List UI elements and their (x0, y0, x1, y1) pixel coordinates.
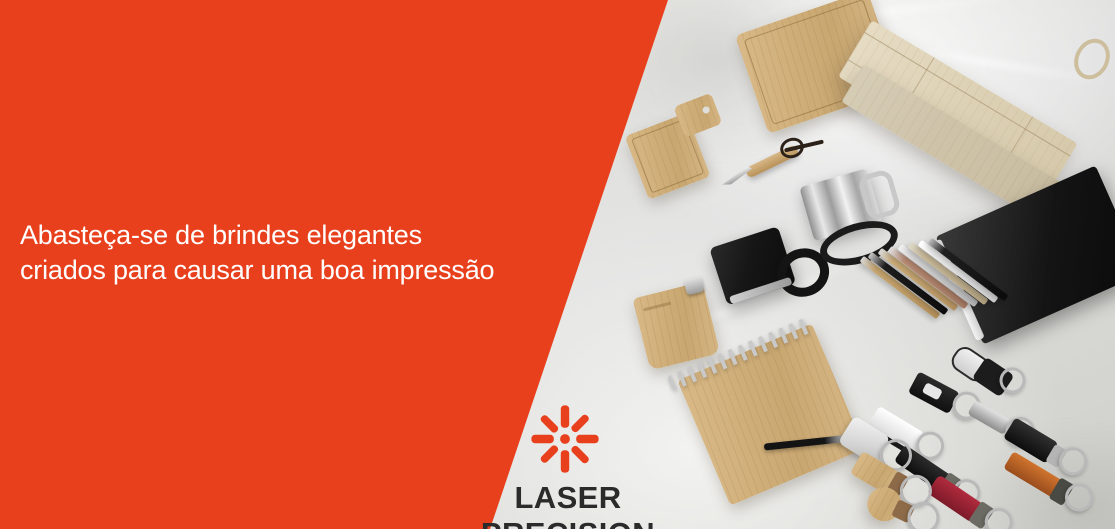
rope-handle (1068, 33, 1115, 86)
black-camp-mug (709, 219, 822, 317)
starburst-icon (530, 404, 600, 474)
brand-logo: LASER PRECISION (424, 402, 704, 524)
promo-banner: Abasteça-se de brindes elegantes criados… (0, 0, 1115, 529)
headline-text: Abasteça-se de brindes elegantes criados… (20, 218, 580, 288)
logo-wordmark: LASER PRECISION (432, 480, 704, 529)
